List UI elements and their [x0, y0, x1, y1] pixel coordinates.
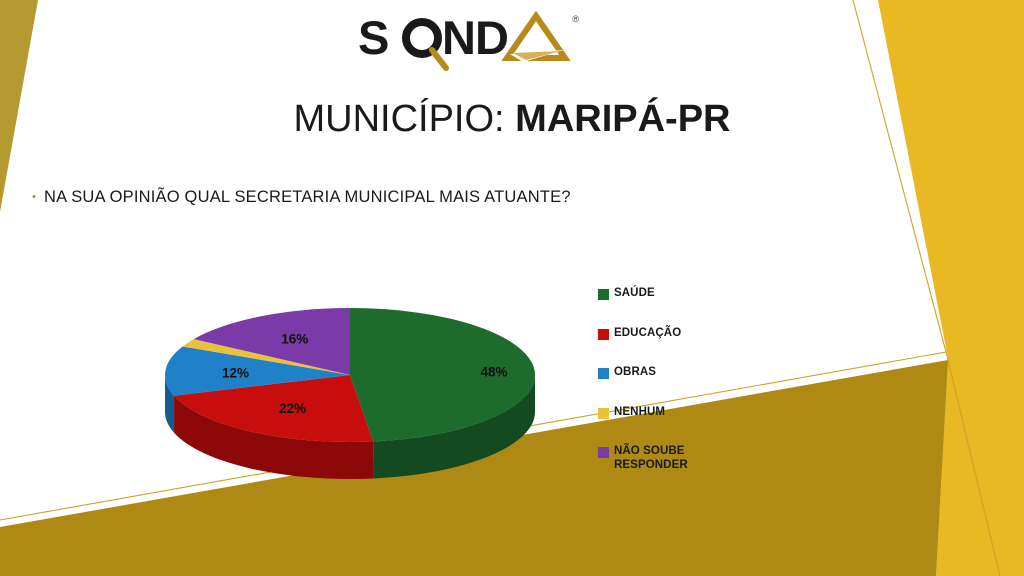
- slide-canvas: S ND ® MUNICÍPIO: MARIPÁ-PR • NA SUA OPI…: [0, 0, 1024, 576]
- legend-color-swatch: [598, 447, 609, 458]
- svg-text:S: S: [358, 11, 388, 64]
- title-prefix: MUNICÍPIO:: [293, 98, 515, 140]
- chart-legend: SAÚDEEDUCAÇÃOOBRASNENHUMNÃO SOUBE RESPON…: [598, 287, 748, 485]
- thin-gold-line-top-left: [853, 0, 946, 352]
- legend-color-swatch: [598, 289, 609, 300]
- pie-chart: 48%22%12%2%16%: [140, 262, 560, 512]
- sonda-logo: S ND ®: [358, 10, 573, 72]
- pie-label-obras: 12%: [222, 365, 249, 380]
- right-bright-gold-shape: [878, 0, 1024, 576]
- legend-item-label: SAÚDE: [614, 287, 655, 301]
- pie-slices: [165, 308, 535, 442]
- legend-item[interactable]: SAÚDE: [598, 287, 748, 327]
- pie-label-educação: 22%: [279, 401, 306, 416]
- legend-item-label: EDUCAÇÃO: [614, 327, 681, 341]
- legend-color-swatch: [598, 368, 609, 379]
- legend-item[interactable]: NÃO SOUBE RESPONDER: [598, 445, 748, 485]
- page-title: MUNICÍPIO: MARIPÁ-PR: [0, 96, 1024, 142]
- legend-item[interactable]: EDUCAÇÃO: [598, 327, 748, 367]
- legend-color-swatch: [598, 408, 609, 419]
- legend-item-label: OBRAS: [614, 366, 656, 380]
- sonda-logo-mark: S ND: [358, 10, 573, 72]
- legend-item[interactable]: OBRAS: [598, 366, 748, 406]
- legend-color-swatch: [598, 329, 609, 340]
- question-text: NA SUA OPINIÃO QUAL SECRETARIA MUNICIPAL…: [44, 185, 571, 209]
- registered-trademark-icon: ®: [572, 14, 579, 24]
- pie-chart-svg: 48%22%12%2%16%: [140, 262, 560, 512]
- pie-label-saúde: 48%: [480, 365, 507, 380]
- title-city: MARIPÁ-PR: [515, 98, 730, 140]
- thin-gold-line-right: [946, 352, 1000, 576]
- question-bullet-row: • NA SUA OPINIÃO QUAL SECRETARIA MUNICIP…: [24, 185, 571, 209]
- pie-label-não-soube-responder: 16%: [281, 332, 308, 347]
- svg-text:ND: ND: [442, 11, 508, 64]
- legend-item-label: NÃO SOUBE RESPONDER: [614, 445, 688, 472]
- legend-item-label: NENHUM: [614, 406, 665, 420]
- bullet-icon: •: [24, 185, 44, 209]
- legend-item[interactable]: NENHUM: [598, 406, 748, 446]
